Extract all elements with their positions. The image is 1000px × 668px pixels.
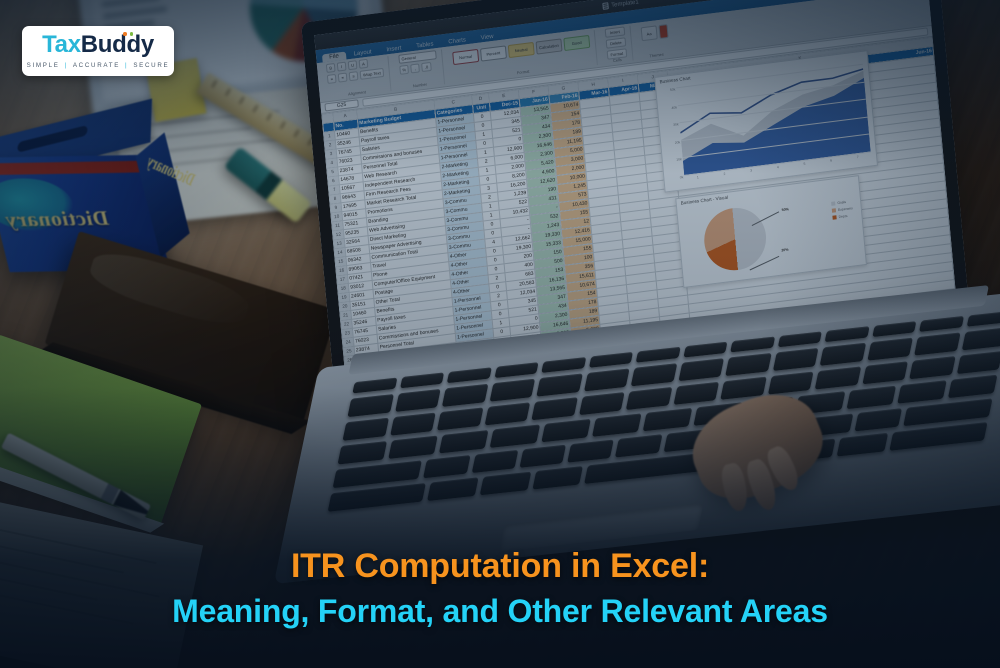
keyboard-key[interactable] <box>626 387 672 410</box>
keyboard-key[interactable] <box>423 455 470 478</box>
keyboard-key[interactable] <box>484 402 530 425</box>
document-icon <box>602 2 609 10</box>
bold-button[interactable]: B <box>326 63 336 73</box>
logo-dot-green <box>130 32 134 36</box>
keyboard-key[interactable] <box>531 397 577 420</box>
ribbon-group-label-themes: Themes <box>638 50 675 60</box>
comma-style-button[interactable]: , <box>411 63 421 73</box>
insert-cells-button[interactable]: Insert <box>604 26 625 37</box>
keyboard-key[interactable] <box>725 353 771 376</box>
keyboard-key[interactable] <box>678 358 724 381</box>
logo-wordmark: TaxBuddy <box>42 33 154 57</box>
keyboard-key[interactable] <box>914 332 960 355</box>
pie-label-20: 20% <box>781 248 789 253</box>
headline-line-2: Meaning, Format, and Other Relevant Area… <box>0 593 1000 630</box>
keyboard-key[interactable] <box>532 466 583 490</box>
legend-item-expenses: Expenses <box>832 206 853 213</box>
tagline-simple: SIMPLE <box>27 62 60 69</box>
logo-text-tax: Tax <box>42 31 81 58</box>
keyboard-key[interactable] <box>767 372 813 395</box>
align-right-button[interactable]: ≡ <box>349 71 359 81</box>
increase-decimal-button[interactable]: .0 <box>422 62 432 72</box>
keyboard-key[interactable] <box>872 321 917 337</box>
keyboard-key[interactable] <box>337 441 387 465</box>
keyboard-key[interactable] <box>395 389 441 412</box>
x-tick: 4 <box>777 165 779 169</box>
keyboard-key[interactable] <box>442 384 488 407</box>
laptop: Template1 File Layout Insert Tables <box>300 0 1000 512</box>
x-tick: 1 <box>697 175 699 179</box>
keyboard-key[interactable] <box>889 422 988 451</box>
keyboard-key[interactable] <box>867 338 913 361</box>
y-tick: 0k <box>680 175 684 179</box>
ribbon-group-number: General % , .0 Number <box>393 49 445 90</box>
keyboard-key[interactable] <box>948 375 998 399</box>
align-left-button[interactable]: ≡ <box>327 74 337 84</box>
keyboard-key[interactable] <box>427 477 478 501</box>
ribbon-group-cells: Insert Delete Format Cells <box>600 26 634 65</box>
style-normal[interactable]: Normal <box>452 49 479 65</box>
keyboard-key[interactable] <box>820 343 866 366</box>
keyboard-key[interactable] <box>447 367 492 383</box>
keyboard-key[interactable] <box>328 483 427 512</box>
keyboard-key[interactable] <box>643 408 693 432</box>
logo-umlaut-dots <box>123 32 133 36</box>
underline-button[interactable]: U <box>348 60 358 70</box>
style-calculation[interactable]: Calculation <box>535 38 562 54</box>
y-tick: 20k <box>675 140 681 145</box>
scene-photo: Dictionary Dictionary Template1 <box>0 0 1000 668</box>
keyboard-key[interactable] <box>583 368 629 391</box>
keyboard-key[interactable] <box>966 311 1000 327</box>
y-tick: 50k <box>670 87 676 92</box>
keyboard-key[interactable] <box>579 392 625 415</box>
legend-label-expenses: Expenses <box>838 206 853 212</box>
keyboard-key[interactable] <box>683 342 728 358</box>
keyboard-key[interactable] <box>439 430 489 454</box>
tagline-separator-2: | <box>125 62 128 69</box>
keyboard-key[interactable] <box>347 394 393 417</box>
x-tick: 3 <box>750 168 752 172</box>
x-tick: 7 <box>857 155 859 159</box>
pie-chart-graphic <box>702 204 769 274</box>
keyboard-key[interactable] <box>837 433 888 457</box>
percent-style-button[interactable]: % <box>399 65 409 75</box>
keyboard-key[interactable] <box>536 374 582 397</box>
style-good[interactable]: Good <box>563 35 590 51</box>
keyboard-key[interactable] <box>352 378 397 394</box>
dictionary-box-label: Dictionary <box>2 206 111 232</box>
keyboard-key[interactable] <box>730 337 775 353</box>
keyboard-key[interactable] <box>673 382 719 405</box>
keyboard-key[interactable] <box>390 413 436 436</box>
pie-label-50: 50% <box>782 207 790 212</box>
keyboard-key[interactable] <box>777 331 822 347</box>
ribbon-group-themes: Aa Themes <box>635 20 675 60</box>
legend-item-depts: Depts <box>832 213 853 220</box>
legend-item-goals: Goals <box>831 199 852 206</box>
x-tick: 5 <box>803 162 805 166</box>
keyboard-key[interactable] <box>541 357 586 373</box>
logo-tagline: SIMPLE | ACCURATE | SECURE <box>27 62 170 69</box>
headline-block: ITR Computation in Excel: Meaning, Forma… <box>0 547 1000 630</box>
logo-dot-orange <box>123 32 127 36</box>
keyboard-key[interactable] <box>909 356 955 379</box>
keyboard-key[interactable] <box>541 419 591 443</box>
keyboard-key[interactable] <box>588 352 633 368</box>
legend-label-goals: Goals <box>837 200 846 205</box>
y-tick: 40k <box>671 105 677 110</box>
keyboard-key[interactable] <box>631 363 677 386</box>
keyboard-key[interactable] <box>961 327 1000 350</box>
y-tick: 10k <box>676 158 682 163</box>
x-tick: 6 <box>830 158 832 162</box>
keyboard-key[interactable] <box>855 408 902 431</box>
keyboard-key[interactable] <box>862 361 908 384</box>
keyboard-key[interactable] <box>494 362 539 378</box>
keyboard-key[interactable] <box>342 418 388 441</box>
keyboard-key[interactable] <box>567 439 614 462</box>
y-tick: 30k <box>673 123 679 128</box>
keyboard-key[interactable] <box>825 326 870 342</box>
keyboard-key[interactable] <box>956 351 1000 374</box>
excel-window-title: Template1 <box>611 0 639 8</box>
keyboard-key[interactable] <box>480 472 531 496</box>
keyboard-key[interactable] <box>592 413 642 437</box>
keyboard-key[interactable] <box>636 347 681 363</box>
keyboard-key[interactable] <box>471 450 518 473</box>
align-center-button[interactable]: ≡ <box>338 73 348 83</box>
style-percent[interactable]: Percent <box>480 45 507 61</box>
style-neutral[interactable]: Neutral <box>508 42 535 58</box>
logo-text-buddy: Buddy <box>81 31 154 58</box>
ribbon-group-alignment: B I U A ≡ ≡ ≡ Wrap Text Align <box>321 56 391 99</box>
italic-button[interactable]: I <box>337 62 347 72</box>
keyboard-key[interactable] <box>919 316 964 332</box>
wrap-text-button[interactable]: Wrap Text <box>360 68 384 80</box>
keyboard-key[interactable] <box>490 424 540 448</box>
keyboard-key[interactable] <box>519 445 566 468</box>
keyboard-key[interactable] <box>489 379 535 402</box>
x-tick: 2 <box>723 172 725 176</box>
tagline-secure: SECURE <box>133 62 169 69</box>
taxbuddy-logo[interactable]: TaxBuddy SIMPLE | ACCURATE | SECURE <box>22 26 174 76</box>
pie-chart-legend: Goals Expenses Depts <box>831 199 854 223</box>
keyboard-key[interactable] <box>897 380 947 404</box>
keyboard-key[interactable] <box>772 348 818 371</box>
font-color-button[interactable]: A <box>359 59 369 69</box>
legend-label-depts: Depts <box>838 214 847 219</box>
delete-cells-button[interactable]: Delete <box>605 37 626 48</box>
keyboard-key[interactable] <box>815 366 861 389</box>
colors-icon[interactable] <box>658 24 668 39</box>
keyboard-key[interactable] <box>388 435 438 459</box>
tagline-separator-1: | <box>65 62 68 69</box>
headline-line-1: ITR Computation in Excel: <box>0 547 1000 586</box>
keyboard-key[interactable] <box>437 407 483 430</box>
keyboard-key[interactable] <box>615 434 662 457</box>
tagline-accurate: ACCURATE <box>73 62 120 69</box>
themes-button[interactable]: Aa <box>640 25 657 41</box>
keyboard-key[interactable] <box>846 386 896 410</box>
keyboard-key[interactable] <box>400 372 445 388</box>
